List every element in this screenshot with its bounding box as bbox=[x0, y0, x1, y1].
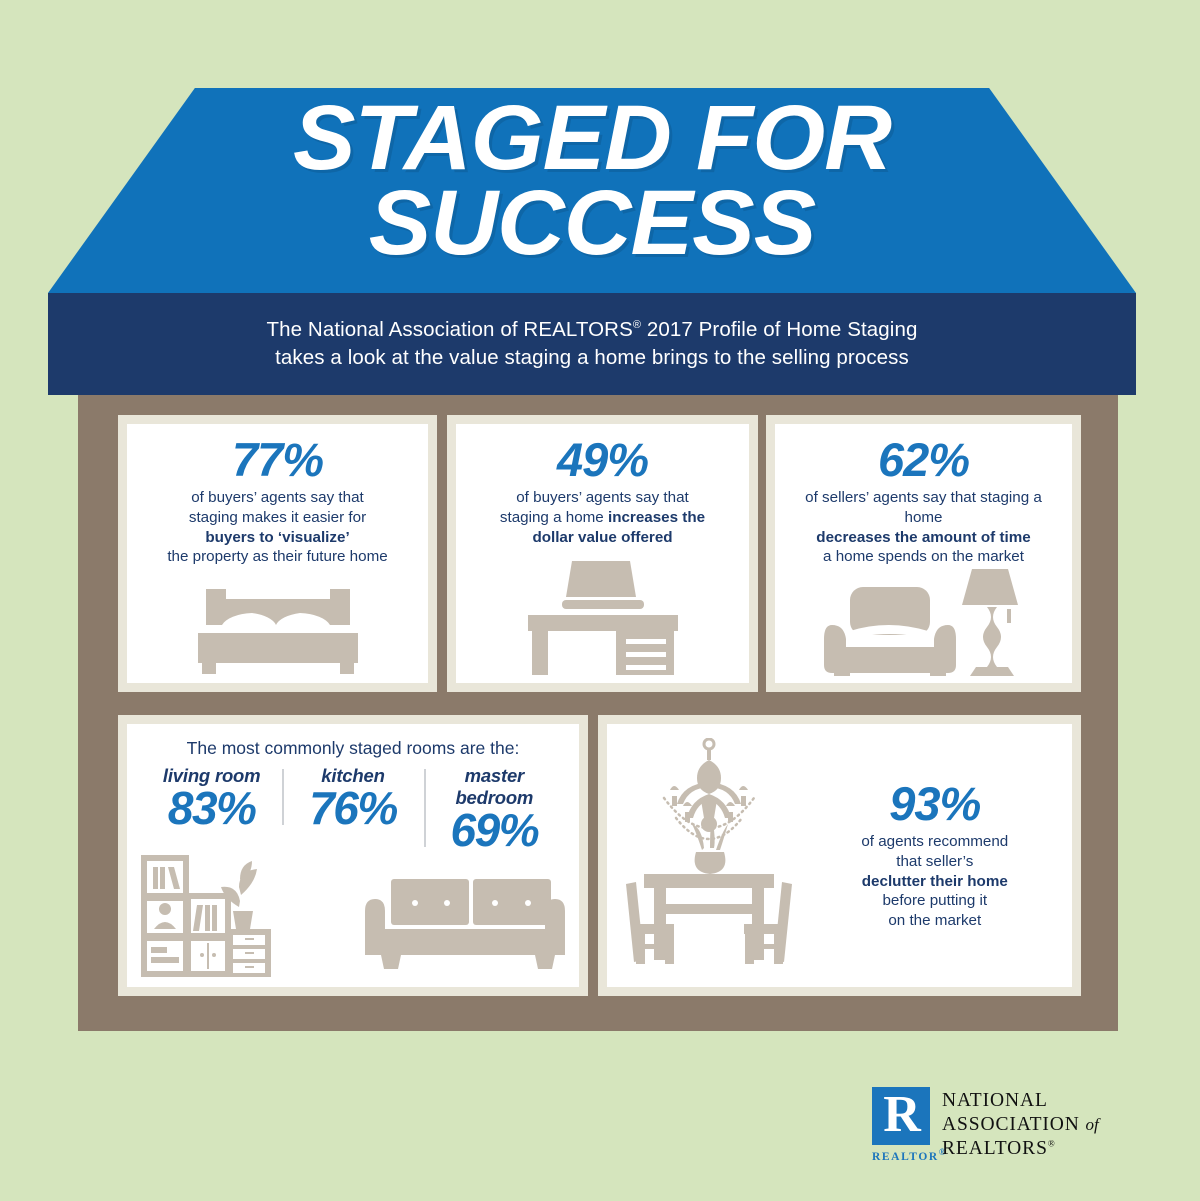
text-seg: a home spends on the market bbox=[823, 548, 1024, 565]
text-seg: staging a home bbox=[500, 509, 608, 526]
stat-percent-93: 93% bbox=[812, 780, 1058, 827]
text-seg: that seller’s bbox=[896, 853, 973, 870]
registered-mark: ® bbox=[633, 319, 641, 331]
roof-shape: STAGED FOR SUCCESS bbox=[48, 88, 1136, 293]
bed-icon bbox=[198, 587, 358, 675]
subtitle-band: The National Association of REALTORS® 20… bbox=[48, 293, 1136, 395]
chandelier-dining-table-icon bbox=[624, 738, 794, 974]
declutter-body: 93% of agents recommend that seller’s de… bbox=[607, 724, 1072, 987]
room-percent: 83% bbox=[147, 785, 276, 831]
armchair-lamp-icon bbox=[824, 567, 1024, 679]
text-seg: of agents recommend bbox=[861, 833, 1008, 850]
subtitle-line-1: The National Association of REALTORS® 20… bbox=[267, 316, 918, 344]
nar-wordmark: NATIONAL ASSOCIATION of REALTORS® bbox=[942, 1089, 1099, 1160]
declutter-text-wrap: 93% of agents recommend that seller’s de… bbox=[812, 780, 1072, 931]
card-dollar-value: 49% of buyers’ agents say that staging a… bbox=[447, 415, 758, 692]
card-time-content: 62% of sellers’ agents say that staging … bbox=[775, 424, 1072, 567]
room-kitchen: kitchen 76% bbox=[282, 765, 423, 831]
stat-percent-77: 77% bbox=[133, 436, 422, 483]
desk-icon bbox=[528, 555, 678, 675]
subtitle-text-a: The National Association of REALTORS bbox=[267, 318, 633, 341]
text-seg-bold: buyers to ‘visualize’ bbox=[205, 529, 349, 546]
realtor-mark: R REALTOR® bbox=[872, 1087, 930, 1163]
armchair-lamp-icon-wrap bbox=[775, 567, 1072, 687]
room-percent: 76% bbox=[288, 785, 417, 831]
text-seg-bold: decreases the amount of time bbox=[816, 529, 1030, 546]
stat-text-dollar-value: of buyers’ agents say that staging a hom… bbox=[462, 488, 743, 547]
text-seg-bold: increases the bbox=[608, 509, 705, 526]
realtor-r-letter: R bbox=[872, 1087, 930, 1145]
title-line-1: STAGED FOR bbox=[37, 96, 1147, 181]
title-line-2: SUCCESS bbox=[37, 181, 1147, 266]
stat-text-visualize: of buyers’ agents say that staging makes… bbox=[133, 488, 422, 567]
nar-logo: R REALTOR® NATIONAL ASSOCIATION of REALT… bbox=[872, 1082, 1112, 1168]
wordmark-assoc: ASSOCIATION bbox=[942, 1114, 1086, 1135]
wordmark-realtors-sup: ® bbox=[1048, 1138, 1056, 1148]
room-label: master bedroom bbox=[430, 765, 559, 809]
room-percent: 69% bbox=[430, 807, 559, 853]
wordmark-line-2: ASSOCIATION of bbox=[942, 1113, 1099, 1137]
subtitle-text-b: 2017 Profile of Home Staging bbox=[641, 318, 917, 341]
wordmark-line-1: NATIONAL bbox=[942, 1089, 1099, 1113]
declutter-icon-wrap bbox=[607, 738, 812, 974]
text-seg: of sellers’ agents say that staging a ho… bbox=[805, 489, 1042, 526]
card-staged-rooms: The most commonly staged rooms are the: … bbox=[118, 715, 588, 996]
wordmark-realtors: REALTORS bbox=[942, 1138, 1048, 1159]
stat-text-declutter: of agents recommend that seller’s declut… bbox=[812, 832, 1058, 931]
stat-percent-49: 49% bbox=[462, 436, 743, 483]
room-living-room: living room 83% bbox=[141, 765, 282, 831]
rooms-heading: The most commonly staged rooms are the: bbox=[127, 724, 579, 759]
infographic-canvas: STAGED FOR SUCCESS The National Associat… bbox=[0, 0, 1200, 1201]
wordmark-line-3: REALTORS® bbox=[942, 1137, 1099, 1161]
card-declutter: 93% of agents recommend that seller’s de… bbox=[598, 715, 1081, 996]
realtor-block-icon: R bbox=[872, 1087, 930, 1145]
stat-text-time: of sellers’ agents say that staging a ho… bbox=[781, 488, 1066, 567]
room-master-bedroom: master bedroom 69% bbox=[424, 765, 565, 853]
text-seg: of buyers’ agents say that bbox=[516, 489, 689, 506]
card-dollar-value-content: 49% of buyers’ agents say that staging a… bbox=[456, 424, 749, 547]
rooms-bar-group: living room 83% kitchen 76% master bedro… bbox=[127, 765, 579, 853]
text-seg: of buyers’ agents say that bbox=[191, 489, 364, 506]
rooms-icon-row bbox=[127, 853, 579, 987]
wordmark-of: of bbox=[1086, 1115, 1099, 1134]
text-seg-bold: declutter their home bbox=[862, 873, 1008, 890]
card-visualize: 77% of buyers’ agents say that staging m… bbox=[118, 415, 437, 692]
stat-percent-62: 62% bbox=[781, 436, 1066, 483]
sofa-icon bbox=[365, 877, 565, 977]
card-visualize-content: 77% of buyers’ agents say that staging m… bbox=[127, 424, 428, 567]
text-seg: before putting it bbox=[882, 892, 987, 909]
bed-icon-wrap bbox=[127, 567, 428, 683]
text-seg: the property as their future home bbox=[167, 548, 387, 565]
page-title: STAGED FOR SUCCESS bbox=[48, 96, 1136, 265]
realtor-caption-text: REALTOR bbox=[872, 1151, 939, 1163]
text-seg-bold: dollar value offered bbox=[532, 529, 672, 546]
text-seg: staging makes it easier for bbox=[189, 509, 366, 526]
realtor-caption: REALTOR® bbox=[872, 1147, 930, 1163]
bookshelf-plant-icon bbox=[141, 855, 271, 977]
text-seg: on the market bbox=[888, 912, 981, 929]
card-time-on-market: 62% of sellers’ agents say that staging … bbox=[766, 415, 1081, 692]
subtitle-line-2: takes a look at the value staging a home… bbox=[275, 344, 909, 372]
desk-icon-wrap bbox=[456, 547, 749, 683]
